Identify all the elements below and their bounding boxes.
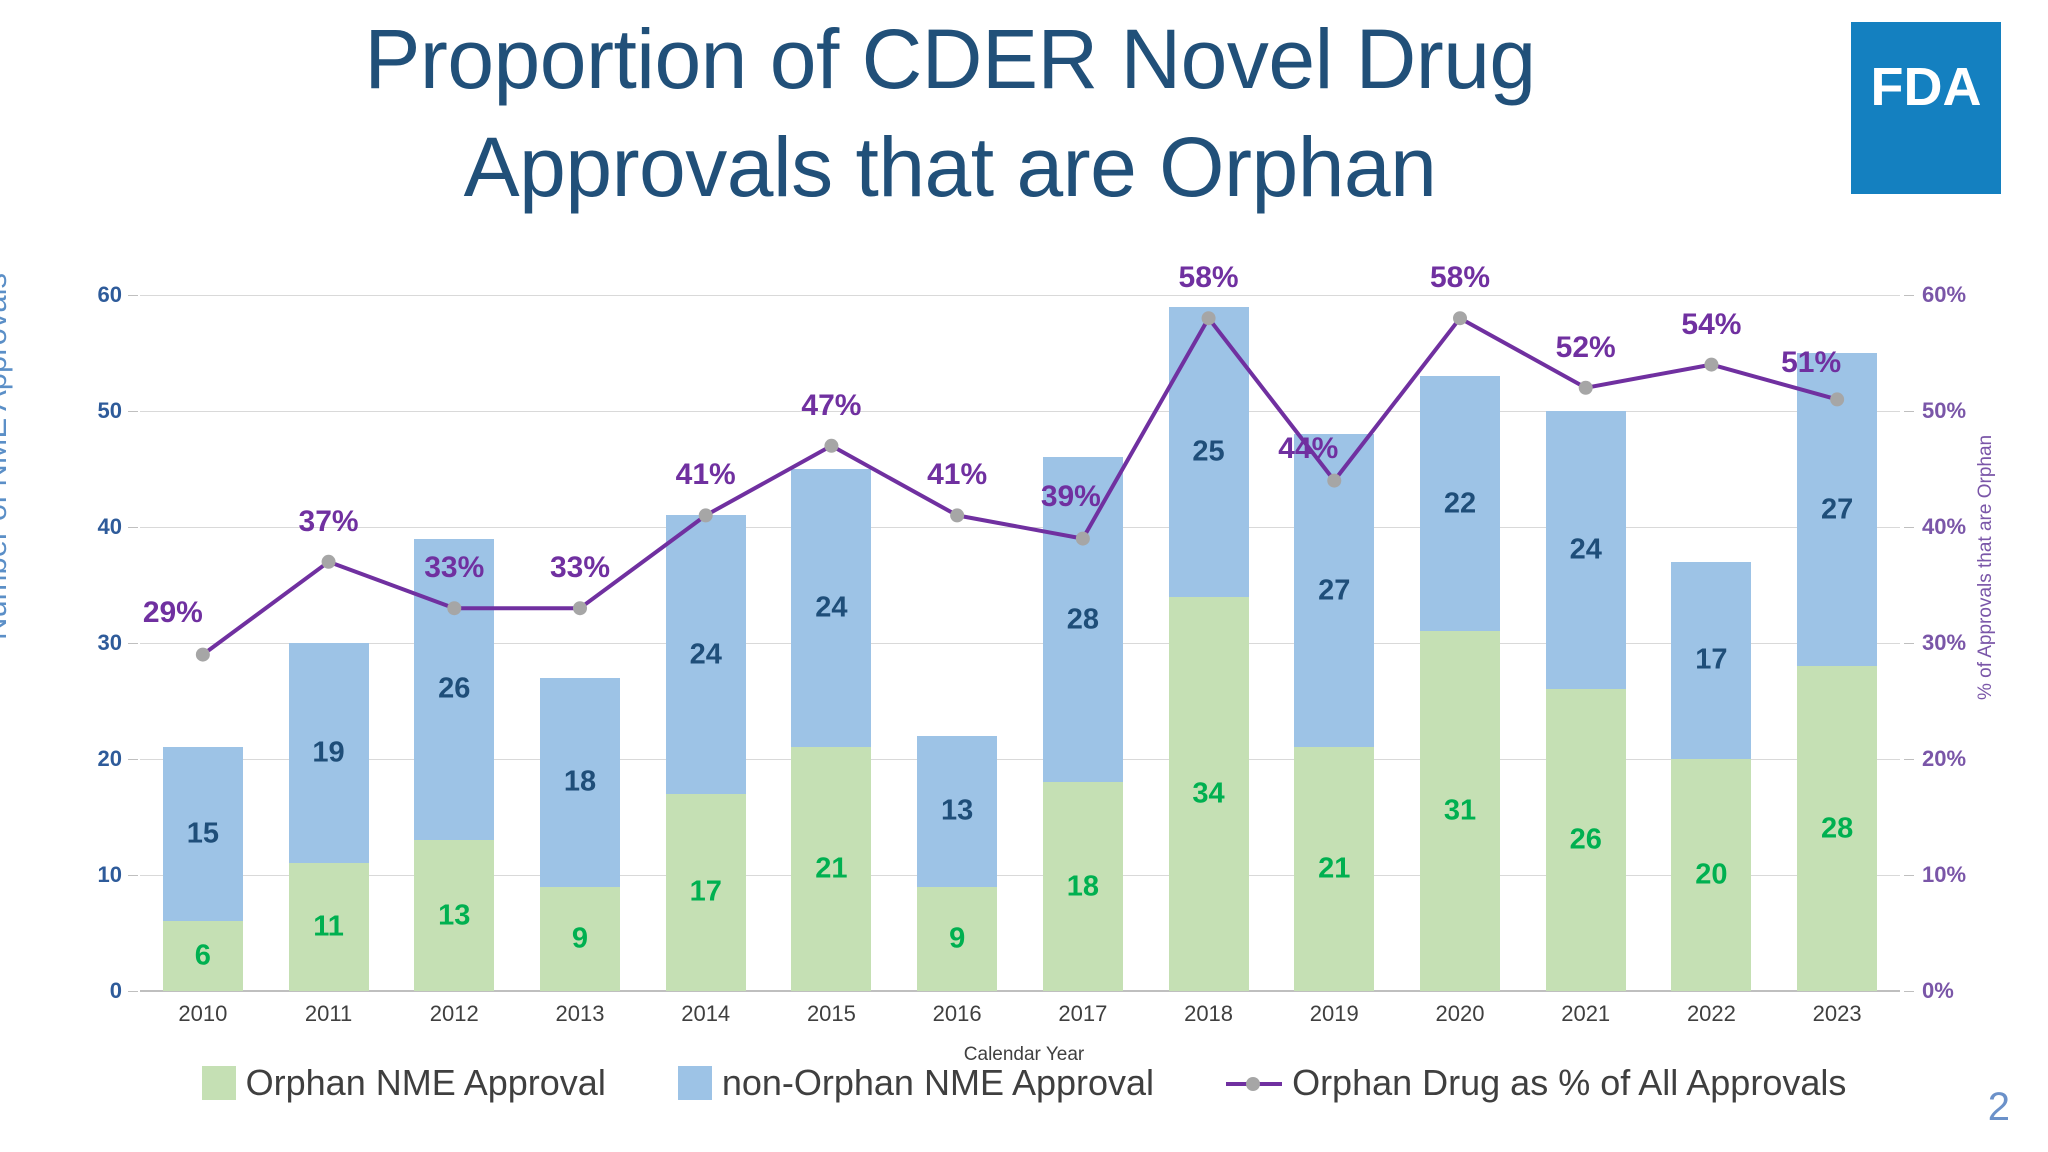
chart-legend: Orphan NME Approvalnon-Orphan NME Approv… [0, 1062, 2048, 1104]
x-axis-tick-label: 2016 [897, 1001, 1017, 1027]
y-axis-left-tick-mark [128, 643, 138, 644]
bar-column[interactable]: 3425 [1169, 295, 1249, 991]
bar-value-label-non-orphan: 26 [414, 673, 494, 706]
y-axis-left-tick-label: 0 [64, 978, 122, 1004]
bar-value-label-orphan: 6 [163, 940, 243, 973]
bar-column[interactable]: 913 [917, 295, 997, 991]
y-axis-left-tick-label: 20 [64, 746, 122, 772]
percent-value-label: 54% [1641, 308, 1781, 342]
bar-value-label-non-orphan: 24 [791, 592, 871, 625]
bar-column[interactable]: 1724 [666, 295, 746, 991]
bar-value-label-orphan: 21 [1294, 853, 1374, 886]
bar-value-label-orphan: 18 [1043, 870, 1123, 903]
y-axis-right-tick-label: 0% [1922, 978, 2002, 1004]
bar-column[interactable]: 918 [540, 295, 620, 991]
bar-value-label-orphan: 11 [289, 911, 369, 944]
grid-line [140, 643, 1900, 644]
plot-area: 6151119132691817242124913182834252127312… [140, 295, 1900, 991]
bar-value-label-orphan: 9 [917, 922, 997, 955]
legend-swatch-orphan-icon [202, 1066, 236, 1100]
bar-value-label-orphan: 17 [666, 876, 746, 909]
bar-value-label-non-orphan: 15 [163, 818, 243, 851]
bar-column[interactable]: 1119 [289, 295, 369, 991]
x-axis-tick-label: 2018 [1149, 1001, 1269, 1027]
y-axis-left-tick-mark [128, 527, 138, 528]
y-axis-left-tick-label: 60 [64, 282, 122, 308]
bar-value-label-non-orphan: 18 [540, 766, 620, 799]
bar-value-label-non-orphan: 25 [1169, 435, 1249, 468]
orphan-approvals-chart: Number of NME Approvals % of Approvals t… [0, 0, 2048, 1152]
percent-value-label: 58% [1139, 261, 1279, 295]
y-axis-right-tick-mark [1904, 759, 1914, 760]
bar-column[interactable]: 615 [163, 295, 243, 991]
legend-label: non-Orphan NME Approval [722, 1062, 1154, 1104]
y-axis-right-tick-label: 50% [1922, 398, 2002, 424]
x-axis-tick-label: 2022 [1651, 1001, 1771, 1027]
grid-line [140, 759, 1900, 760]
x-axis-tick-label: 2012 [394, 1001, 514, 1027]
percent-value-label: 39% [1001, 480, 1141, 514]
grid-line [140, 875, 1900, 876]
percent-value-label: 29% [103, 596, 243, 630]
bar-value-label-orphan: 34 [1169, 777, 1249, 810]
x-axis-tick-label: 2017 [1023, 1001, 1143, 1027]
bar-value-label-non-orphan: 17 [1671, 644, 1751, 677]
percent-value-label: 51% [1741, 346, 1881, 380]
legend-swatch-non-orphan-icon [678, 1066, 712, 1100]
legend-item[interactable]: Orphan Drug as % of All Approvals [1226, 1062, 1846, 1104]
y-axis-left-tick-label: 40 [64, 514, 122, 540]
bar-column[interactable]: 2127 [1294, 295, 1374, 991]
y-axis-right-tick-mark [1904, 875, 1914, 876]
y-axis-left-tick-mark [128, 295, 138, 296]
x-axis-line [140, 990, 1900, 992]
y-axis-right-tick-label: 40% [1922, 514, 2002, 540]
x-axis-tick-label: 2010 [143, 1001, 263, 1027]
percent-value-label: 52% [1516, 331, 1656, 365]
y-axis-left-tick-mark [128, 411, 138, 412]
percent-value-label: 33% [510, 551, 650, 585]
percent-value-label: 47% [761, 389, 901, 423]
bar-column[interactable]: 2624 [1546, 295, 1626, 991]
bar-value-label-orphan: 26 [1546, 824, 1626, 857]
bar-value-label-orphan: 9 [540, 922, 620, 955]
x-axis-tick-label: 2013 [520, 1001, 640, 1027]
x-axis-tick-label: 2014 [646, 1001, 766, 1027]
percent-value-label: 58% [1390, 261, 1530, 295]
bar-value-label-orphan: 20 [1671, 859, 1751, 892]
y-axis-left-tick-label: 50 [64, 398, 122, 424]
bar-value-label-non-orphan: 13 [917, 795, 997, 828]
y-axis-left-tick-mark [128, 875, 138, 876]
grid-line [140, 295, 1900, 296]
bar-column[interactable]: 3122 [1420, 295, 1500, 991]
percent-value-label: 37% [259, 505, 399, 539]
bar-value-label-non-orphan: 19 [289, 737, 369, 770]
percent-value-label: 44% [1238, 432, 1378, 466]
bar-value-label-orphan: 13 [414, 899, 494, 932]
y-axis-right-tick-label: 60% [1922, 282, 2002, 308]
bar-value-label-non-orphan: 24 [1546, 534, 1626, 567]
x-axis-tick-label: 2023 [1777, 1001, 1897, 1027]
legend-item[interactable]: non-Orphan NME Approval [678, 1062, 1154, 1104]
bar-value-label-orphan: 31 [1420, 795, 1500, 828]
bar-column[interactable]: 1828 [1043, 295, 1123, 991]
bar-value-label-orphan: 28 [1797, 812, 1877, 845]
x-axis-tick-label: 2020 [1400, 1001, 1520, 1027]
y-axis-right-tick-label: 20% [1922, 746, 2002, 772]
bar-column[interactable]: 2827 [1797, 295, 1877, 991]
bar-value-label-non-orphan: 28 [1043, 603, 1123, 636]
percent-value-label: 41% [636, 458, 776, 492]
y-axis-right-tick-mark [1904, 411, 1914, 412]
bar-value-label-non-orphan: 27 [1797, 493, 1877, 526]
grid-line [140, 411, 1900, 412]
x-axis-tick-label: 2021 [1526, 1001, 1646, 1027]
y-axis-left-tick-mark [128, 991, 138, 992]
y-axis-left-tick-label: 30 [64, 630, 122, 656]
y-axis-left-tick-label: 10 [64, 862, 122, 888]
x-axis-tick-label: 2015 [771, 1001, 891, 1027]
x-axis-tick-label: 2019 [1274, 1001, 1394, 1027]
bar-value-label-non-orphan: 27 [1294, 574, 1374, 607]
y-axis-right-title: % of Approvals that are Orphan [1975, 435, 1997, 700]
y-axis-right-tick-mark [1904, 991, 1914, 992]
grid-line [140, 527, 1900, 528]
y-axis-left-title: Number of NME Approvals [0, 273, 14, 640]
bar-value-label-orphan: 21 [791, 853, 871, 886]
y-axis-right-tick-mark [1904, 527, 1914, 528]
legend-line-marker-icon [1226, 1066, 1282, 1100]
legend-item[interactable]: Orphan NME Approval [202, 1062, 606, 1104]
y-axis-right-tick-label: 10% [1922, 862, 2002, 888]
y-axis-right-tick-mark [1904, 643, 1914, 644]
bar-column[interactable]: 2017 [1671, 295, 1751, 991]
legend-label: Orphan NME Approval [246, 1062, 606, 1104]
bar-value-label-non-orphan: 24 [666, 638, 746, 671]
y-axis-right-tick-label: 30% [1922, 630, 2002, 656]
y-axis-left-tick-mark [128, 759, 138, 760]
x-axis-tick-label: 2011 [269, 1001, 389, 1027]
legend-label: Orphan Drug as % of All Approvals [1292, 1062, 1846, 1104]
bar-value-label-non-orphan: 22 [1420, 487, 1500, 520]
bar-column[interactable]: 1326 [414, 295, 494, 991]
y-axis-right-tick-mark [1904, 295, 1914, 296]
percent-value-label: 33% [384, 551, 524, 585]
